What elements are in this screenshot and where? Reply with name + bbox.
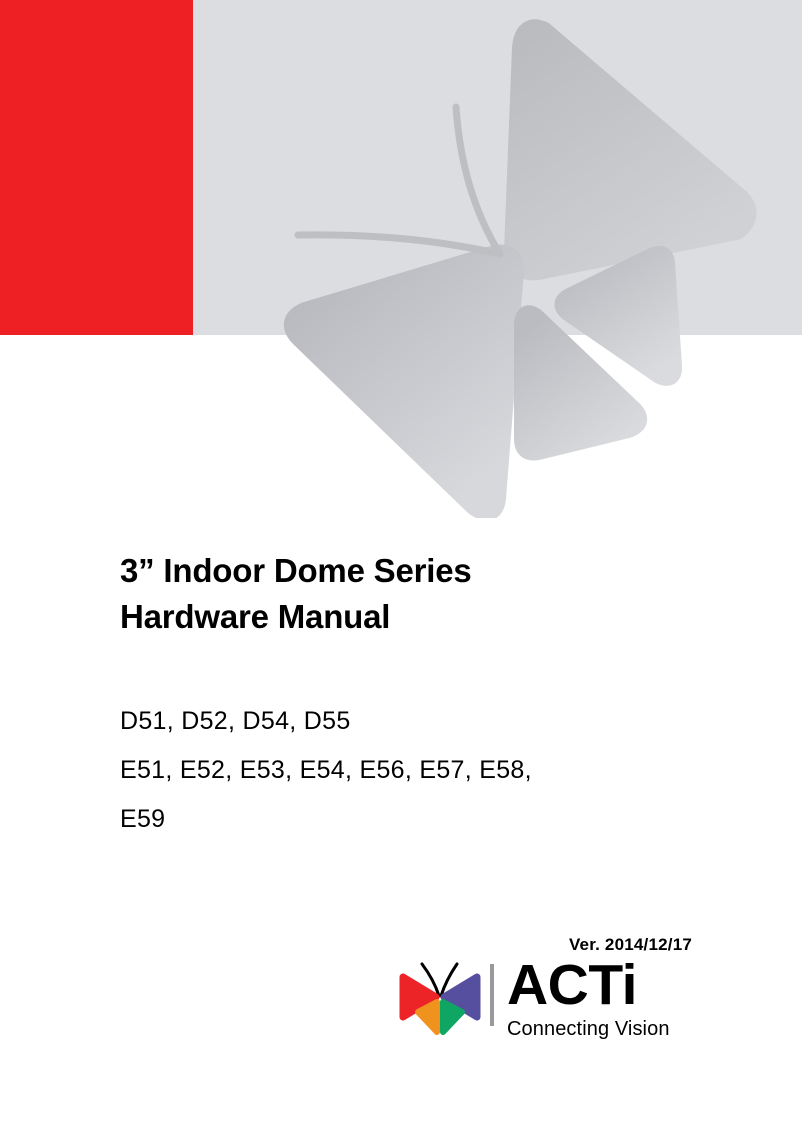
page-title: 3” Indoor Dome Series Hardware Manual xyxy=(120,548,740,640)
acti-butterfly-logo-icon xyxy=(396,960,484,1038)
model-line: D51, D52, D54, D55 xyxy=(120,697,720,746)
acti-logo-lockup: ACTi Connecting Vision xyxy=(396,958,670,1040)
acti-tagline: Connecting Vision xyxy=(507,1018,670,1040)
model-line: E51, E52, E53, E54, E56, E57, E58, xyxy=(120,746,720,795)
model-list: D51, D52, D54, D55 E51, E52, E53, E54, E… xyxy=(120,697,720,844)
acti-wordmark: ACTi Connecting Vision xyxy=(507,958,670,1040)
title-block: 3” Indoor Dome Series Hardware Manual xyxy=(120,548,740,640)
vertical-divider-icon xyxy=(490,964,494,1026)
version-label: Ver. 2014/12/17 xyxy=(569,935,692,955)
manual-cover-page: 3” Indoor Dome Series Hardware Manual D5… xyxy=(0,0,802,1134)
acti-brand-text: ACTi xyxy=(507,960,670,1010)
model-line: E59 xyxy=(120,795,720,844)
header-red-block xyxy=(0,0,193,335)
